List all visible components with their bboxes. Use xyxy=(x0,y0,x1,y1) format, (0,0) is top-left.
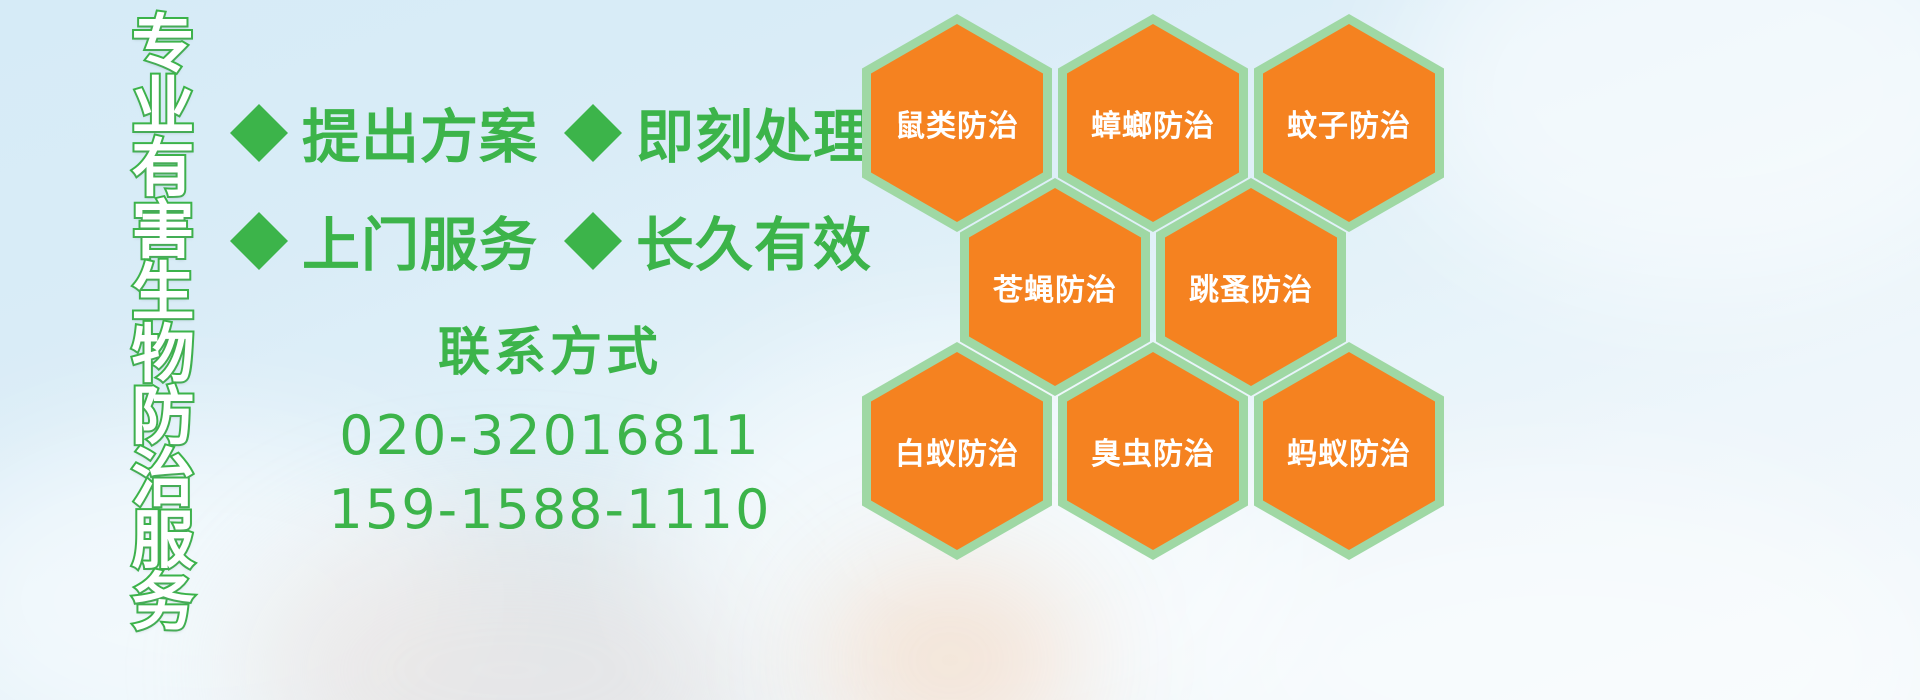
vertical-headline: 专 业 有 害 生 物 防 治 服 务 xyxy=(108,14,218,574)
service-hex-inner: 白蚁防治 xyxy=(871,352,1043,550)
feature-item: 提出方案 xyxy=(230,90,538,174)
background-glow-top-right xyxy=(1400,0,1920,300)
feature-row: 提出方案 即刻处理 xyxy=(230,78,870,186)
vertical-headline-char: 治 xyxy=(132,448,195,510)
service-hex-label: 跳蚤防治 xyxy=(1189,265,1313,309)
service-hex-label: 蟑螂防治 xyxy=(1091,101,1215,145)
vertical-headline-char: 服 xyxy=(132,510,195,572)
vertical-headline-char: 专 xyxy=(132,14,195,76)
feature-label: 长久有效 xyxy=(636,198,872,282)
service-hex-inner: 苍蝇防治 xyxy=(969,188,1141,386)
phone-number-mobile[interactable]: 159-1588-1110 xyxy=(300,473,800,547)
feature-item: 上门服务 xyxy=(230,198,538,282)
service-honeycomb-grid: 鼠类防治 蟑螂防治 蚊子防治 苍蝇防治 跳蚤防治 白蚁防治 xyxy=(862,8,1442,556)
service-hex-label: 白蚁防治 xyxy=(895,429,1019,473)
service-hex-inner: 蚊子防治 xyxy=(1263,24,1435,222)
diamond-bullet-icon xyxy=(564,75,622,133)
vertical-headline-char: 务 xyxy=(132,572,195,634)
feature-item: 即刻处理 xyxy=(564,90,872,174)
service-hex-inner: 蚂蚁防治 xyxy=(1263,352,1435,550)
service-hex-label: 蚂蚁防治 xyxy=(1287,429,1411,473)
feature-item: 长久有效 xyxy=(564,198,872,282)
contact-heading: 联系方式 xyxy=(300,310,800,385)
vertical-headline-char: 生 xyxy=(132,262,195,324)
feature-list: 提出方案 即刻处理 上门服务 长久有效 xyxy=(230,78,870,294)
service-hex-inner: 鼠类防治 xyxy=(871,24,1043,222)
feature-label: 即刻处理 xyxy=(636,90,872,174)
diamond-bullet-icon xyxy=(230,183,288,241)
service-hex-label: 臭虫防治 xyxy=(1091,429,1215,473)
vertical-headline-char: 业 xyxy=(132,76,195,138)
service-hex-inner: 蟑螂防治 xyxy=(1067,24,1239,222)
phone-number-landline[interactable]: 020-32016811 xyxy=(300,399,800,473)
background-glow-lower-left xyxy=(250,520,770,700)
service-hex-inner: 跳蚤防治 xyxy=(1165,188,1337,386)
service-hex-inner: 臭虫防治 xyxy=(1067,352,1239,550)
pest-control-banner: 专 业 有 害 生 物 防 治 服 务 提出方案 即刻处理 上门服务 xyxy=(0,0,1920,700)
feature-label: 上门服务 xyxy=(302,198,538,282)
feature-label: 提出方案 xyxy=(302,90,538,174)
vertical-headline-char: 有 xyxy=(132,138,195,200)
vertical-headline-char: 防 xyxy=(132,386,195,448)
contact-block: 联系方式 020-32016811 159-1588-1110 xyxy=(300,310,800,547)
diamond-bullet-icon xyxy=(564,183,622,241)
diamond-bullet-icon xyxy=(230,75,288,133)
service-hex-label: 苍蝇防治 xyxy=(993,265,1117,309)
background-glow-orange xyxy=(820,560,1080,700)
vertical-headline-char: 害 xyxy=(132,200,195,262)
service-hex-label: 鼠类防治 xyxy=(895,101,1019,145)
vertical-headline-char: 物 xyxy=(132,324,195,386)
service-hex-label: 蚊子防治 xyxy=(1287,101,1411,145)
feature-row: 上门服务 长久有效 xyxy=(230,186,870,294)
